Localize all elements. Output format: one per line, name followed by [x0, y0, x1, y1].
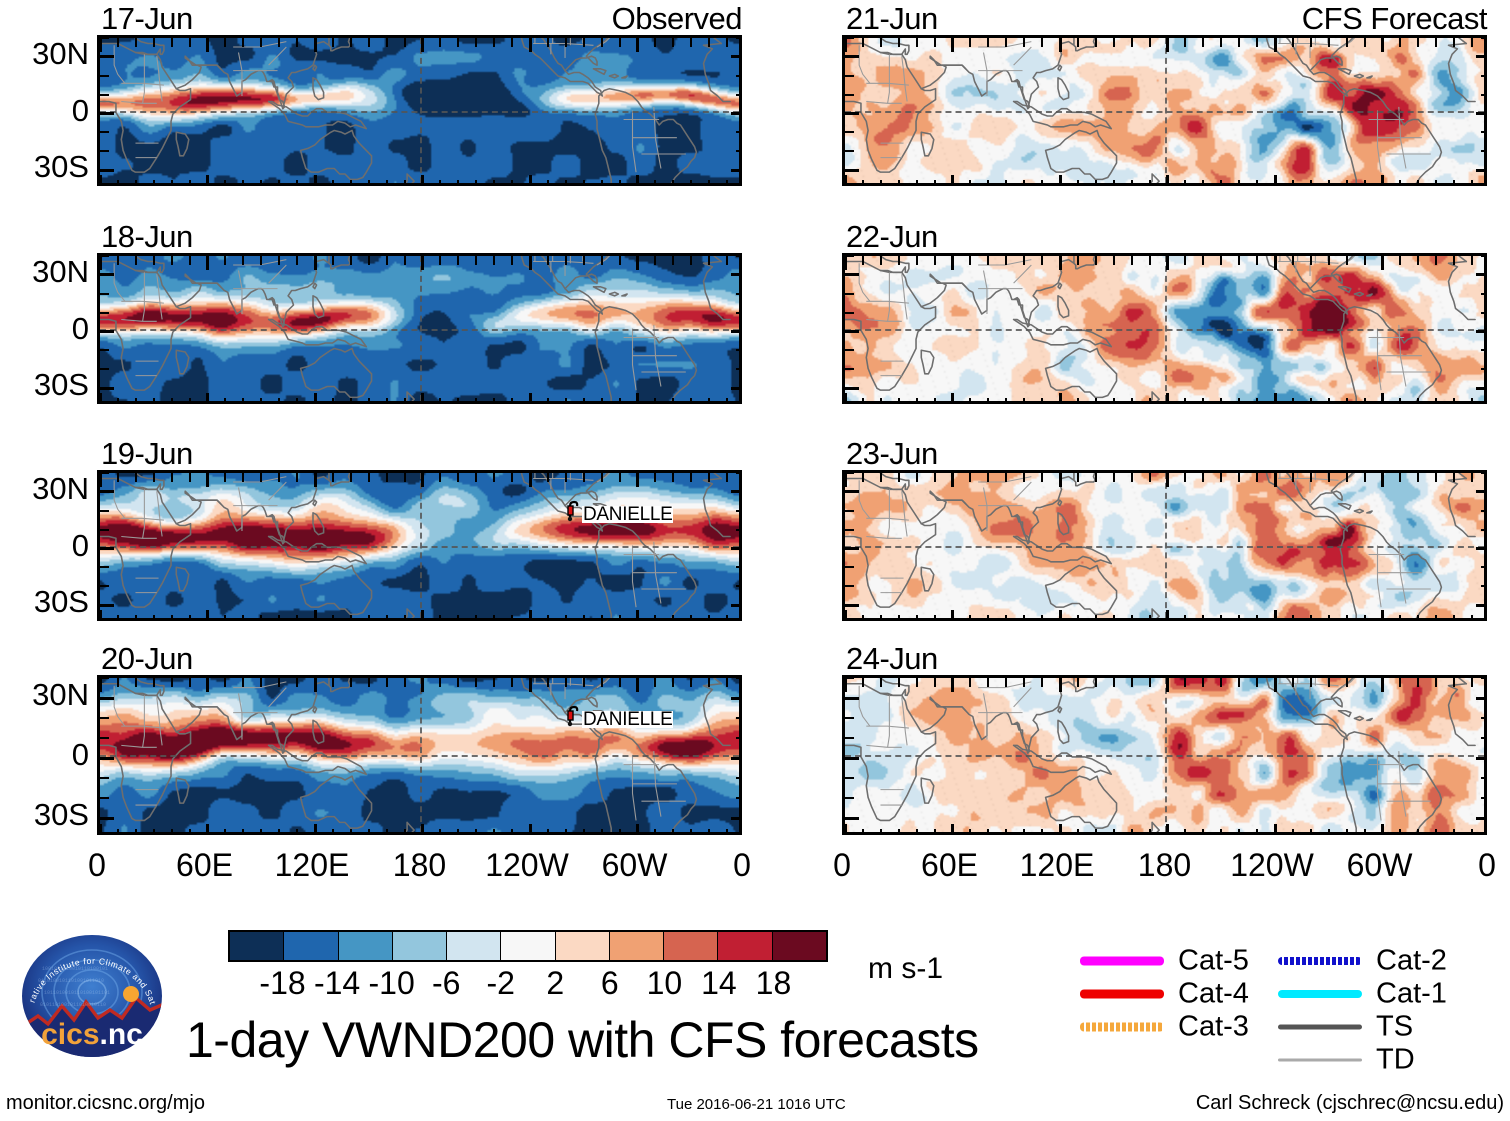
- panel-obs-19-jun: 19-Jun.cl{fill:none;stroke:#6e6e6e;strok…: [97, 470, 742, 621]
- y-axis-label: 0: [72, 311, 89, 347]
- x-axis-label: 60E: [921, 847, 978, 884]
- dateline-180: [420, 38, 422, 183]
- panel-obs-18-jun: 18-Jun.cl{fill:none;stroke:#6e6e6e;strok…: [97, 253, 742, 404]
- map-plot-area[interactable]: .cl{fill:none;stroke:#6e6e6e;stroke-widt…: [842, 253, 1487, 404]
- colorbar-segment: [230, 932, 283, 960]
- x-axis-label: 60E: [176, 847, 233, 884]
- panel-fcst-21-jun: 21-JunCFS Forecast.cl{fill:none;stroke:#…: [842, 35, 1487, 186]
- colorbar-segment: [392, 932, 446, 960]
- colorbar-segment: [717, 932, 771, 960]
- dateline-180: [1165, 473, 1167, 618]
- cicsnc-logo: 1001011010010110100101 01101001011010010…: [18, 932, 166, 1060]
- storm-legend-swatch: [1080, 1022, 1164, 1031]
- storm-legend-label: Cat-3: [1178, 1010, 1249, 1043]
- y-axis-label: 30S: [34, 367, 89, 403]
- observed-column-header: Observed: [612, 1, 742, 37]
- figure-title: 1-day VWND200 with CFS forecasts: [186, 1011, 979, 1069]
- panel-fcst-23-jun: 23-Jun.cl{fill:none;stroke:#6e6e6e;strok…: [842, 470, 1487, 621]
- footer-left-link[interactable]: monitor.cicsnc.org/mjo: [6, 1092, 205, 1115]
- storm-name-label: DANIELLE: [582, 711, 673, 728]
- storm-legend-label: Cat-2: [1376, 944, 1447, 977]
- storm-legend-swatch: [1278, 990, 1362, 998]
- colorbar-tick-label: -6: [432, 965, 460, 1002]
- storm-legend-label: TD: [1376, 1043, 1415, 1076]
- map-plot-area[interactable]: .cl{fill:none;stroke:#6e6e6e;stroke-widt…: [842, 35, 1487, 186]
- panel-date-label: 21-Jun: [846, 1, 938, 37]
- panel-date-label: 20-Jun: [101, 641, 193, 677]
- map-plot-area[interactable]: .cl{fill:none;stroke:#6e6e6e;stroke-widt…: [842, 470, 1487, 621]
- colorbar-tick-label: -14: [314, 965, 360, 1002]
- panel-date-label: 19-Jun: [101, 436, 193, 472]
- dateline-180: [420, 256, 422, 401]
- colorbar-tick-labels: -18-14-10-6-226101418: [228, 962, 828, 1002]
- svg-text:1011010010110100101101: 1011010010110100101101: [44, 990, 110, 996]
- x-axis-label: 120E: [1020, 847, 1095, 884]
- map-plot-area[interactable]: .cl{fill:none;stroke:#6e6e6e;stroke-widt…: [97, 675, 742, 835]
- footer-timestamp: Tue 2016-06-21 1016 UTC: [667, 1096, 846, 1113]
- x-axis-label: 180: [393, 847, 446, 884]
- storm-legend-item: TS: [1278, 1010, 1478, 1043]
- storm-category-legend: Cat-5Cat-4Cat-3 Cat-2Cat-1TSTD: [1080, 944, 1500, 1074]
- footer-author: Carl Schreck (cjschrec@ncsu.edu): [1196, 1092, 1504, 1115]
- forecast-column-header: CFS Forecast: [1302, 1, 1487, 37]
- panel-date-label: 24-Jun: [846, 641, 938, 677]
- colorbar-tick-label: -2: [486, 965, 514, 1002]
- x-axis-label: 0: [88, 847, 106, 884]
- dateline-180: [420, 678, 422, 832]
- storm-legend-swatch: [1278, 1024, 1362, 1029]
- y-axis-label: 30N: [32, 471, 89, 507]
- y-axis-label: 30S: [34, 797, 89, 833]
- colorbar-tick-label: 18: [756, 965, 792, 1002]
- colorbar-segment: [555, 932, 609, 960]
- x-axis-label: 60W: [602, 847, 668, 884]
- panel-fcst-24-jun: 24-Jun.cl{fill:none;stroke:#6e6e6e;strok…: [842, 675, 1487, 835]
- y-axis-label: 30S: [34, 149, 89, 185]
- storm-legend-swatch: [1278, 1058, 1362, 1061]
- panel-date-label: 22-Jun: [846, 219, 938, 255]
- y-axis-label: 30N: [32, 254, 89, 290]
- storm-legend-label: Cat-1: [1376, 977, 1447, 1010]
- colorbar: [228, 930, 828, 962]
- colorbar-segment: [663, 932, 717, 960]
- svg-text:cics.nc: cics.nc: [41, 1018, 143, 1051]
- colorbar-segment: [338, 932, 392, 960]
- colorbar-group: -18-14-10-6-226101418 m s-1: [228, 930, 828, 962]
- dateline-180: [1165, 256, 1167, 401]
- storm-legend-swatch: [1080, 956, 1164, 965]
- storm-legend-swatch: [1080, 989, 1164, 998]
- x-axis-label: 0: [833, 847, 851, 884]
- x-axis-label: 180: [1138, 847, 1191, 884]
- storm-name-label: DANIELLE: [582, 506, 673, 523]
- dateline-180: [420, 473, 422, 618]
- y-axis-label: 30S: [34, 584, 89, 620]
- colorbar-tick-label: -18: [259, 965, 305, 1002]
- x-axis-label: 120W: [485, 847, 569, 884]
- x-axis-label: 60W: [1347, 847, 1413, 884]
- storm-legend-column-left: Cat-5Cat-4Cat-3: [1080, 944, 1270, 1043]
- panel-date-label: 17-Jun: [101, 1, 193, 37]
- svg-text:0101101001011010010110: 0101101001011010010110: [40, 1002, 106, 1008]
- storm-legend-item: Cat-2: [1278, 944, 1478, 977]
- y-axis-label: 30N: [32, 677, 89, 713]
- storm-track-icon: [564, 705, 580, 727]
- colorbar-tick-label: 2: [546, 965, 564, 1002]
- panel-fcst-22-jun: 22-Jun.cl{fill:none;stroke:#6e6e6e;strok…: [842, 253, 1487, 404]
- colorbar-segment: [609, 932, 663, 960]
- colorbar-tick-label: 10: [647, 965, 683, 1002]
- colorbar-tick-label: 14: [701, 965, 737, 1002]
- colorbar-segment: [283, 932, 337, 960]
- storm-legend-swatch: [1278, 957, 1362, 965]
- dateline-180: [1165, 38, 1167, 183]
- panel-date-label: 18-Jun: [101, 219, 193, 255]
- storm-legend-item: Cat-5: [1080, 944, 1270, 977]
- panel-obs-17-jun: 17-JunObserved.cl{fill:none;stroke:#6e6e…: [97, 35, 742, 186]
- map-plot-area[interactable]: .cl{fill:none;stroke:#6e6e6e;stroke-widt…: [842, 675, 1487, 835]
- figure-canvas: 17-JunObserved.cl{fill:none;stroke:#6e6e…: [0, 0, 1510, 1121]
- storm-legend-label: Cat-4: [1178, 977, 1249, 1010]
- panel-obs-20-jun: 20-Jun.cl{fill:none;stroke:#6e6e6e;strok…: [97, 675, 742, 835]
- colorbar-tick-label: -10: [369, 965, 415, 1002]
- panel-date-label: 23-Jun: [846, 436, 938, 472]
- map-plot-area[interactable]: .cl{fill:none;stroke:#6e6e6e;stroke-widt…: [97, 470, 742, 621]
- colorbar-tick-label: 6: [601, 965, 619, 1002]
- x-axis-label: 120E: [275, 847, 350, 884]
- storm-legend-item: Cat-3: [1080, 1010, 1270, 1043]
- y-axis-label: 0: [72, 528, 89, 564]
- x-axis-label: 0: [733, 847, 751, 884]
- map-plot-area[interactable]: .cl{fill:none;stroke:#6e6e6e;stroke-widt…: [97, 35, 742, 186]
- colorbar-units-label: m s-1: [868, 952, 943, 986]
- y-axis-label: 0: [72, 737, 89, 773]
- x-axis-label: 0: [1478, 847, 1496, 884]
- colorbar-segment: [500, 932, 554, 960]
- y-axis-label: 30N: [32, 36, 89, 72]
- storm-legend-item: TD: [1278, 1043, 1478, 1076]
- storm-legend-column-right: Cat-2Cat-1TSTD: [1278, 944, 1478, 1076]
- storm-track-icon: [564, 500, 580, 522]
- storm-legend-item: Cat-4: [1080, 977, 1270, 1010]
- colorbar-segment: [772, 932, 826, 960]
- colorbar-segment: [446, 932, 500, 960]
- storm-legend-item: Cat-1: [1278, 977, 1478, 1010]
- dateline-180: [1165, 678, 1167, 832]
- map-plot-area[interactable]: .cl{fill:none;stroke:#6e6e6e;stroke-widt…: [97, 253, 742, 404]
- storm-legend-label: TS: [1376, 1010, 1413, 1043]
- y-axis-label: 0: [72, 93, 89, 129]
- storm-legend-label: Cat-5: [1178, 944, 1249, 977]
- x-axis-label: 120W: [1230, 847, 1314, 884]
